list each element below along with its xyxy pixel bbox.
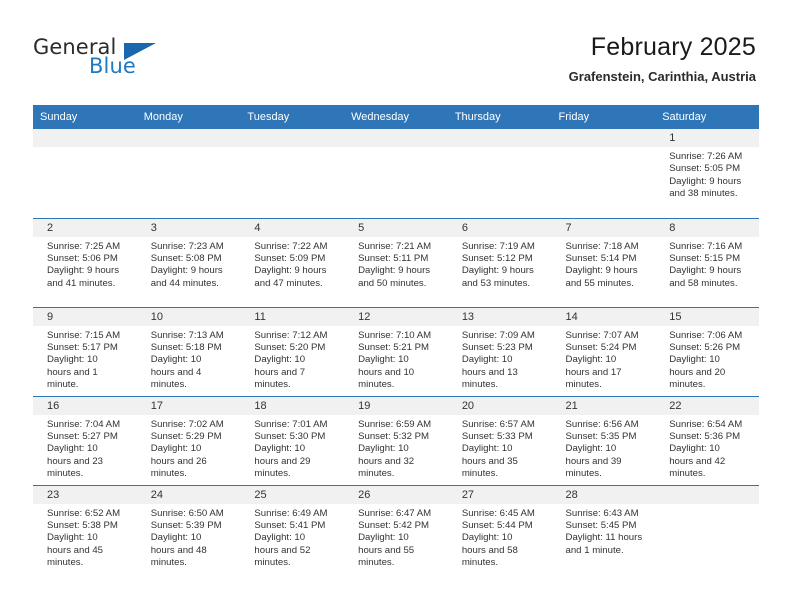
calendar-day-cell[interactable]: 16Sunrise: 7:04 AMSunset: 5:27 PMDayligh… bbox=[33, 396, 137, 485]
day-number: 21 bbox=[559, 397, 650, 415]
daylight-text: Daylight: 10 hours and 10 minutes. bbox=[358, 354, 435, 391]
daylight-text: Daylight: 10 hours and 39 minutes. bbox=[566, 443, 643, 480]
sunrise-text: Sunrise: 7:07 AM bbox=[566, 330, 643, 342]
sunrise-text: Sunrise: 6:54 AM bbox=[669, 419, 746, 431]
calendar-day-cell[interactable]: 3Sunrise: 7:23 AMSunset: 5:08 PMDaylight… bbox=[137, 218, 241, 307]
day-number: 5 bbox=[351, 219, 442, 237]
day-details: Sunrise: 6:45 AMSunset: 5:44 PMDaylight:… bbox=[455, 504, 546, 570]
day-cell-inner bbox=[552, 129, 656, 218]
day-number bbox=[559, 129, 650, 147]
sunset-text: Sunset: 5:21 PM bbox=[358, 342, 435, 354]
day-cell-inner: 19Sunrise: 6:59 AMSunset: 5:32 PMDayligh… bbox=[344, 397, 448, 485]
calendar-day-cell[interactable]: 27Sunrise: 6:45 AMSunset: 5:44 PMDayligh… bbox=[448, 485, 552, 574]
sunset-text: Sunset: 5:29 PM bbox=[151, 431, 228, 443]
sunrise-text: Sunrise: 7:10 AM bbox=[358, 330, 435, 342]
calendar-table: Sunday Monday Tuesday Wednesday Thursday… bbox=[33, 105, 759, 574]
day-number bbox=[351, 129, 442, 147]
day-details: Sunrise: 7:21 AMSunset: 5:11 PMDaylight:… bbox=[351, 237, 442, 291]
daylight-text: Daylight: 9 hours and 44 minutes. bbox=[151, 265, 228, 290]
day-details: Sunrise: 7:12 AMSunset: 5:20 PMDaylight:… bbox=[247, 326, 338, 392]
sunset-text: Sunset: 5:35 PM bbox=[566, 431, 643, 443]
sunset-text: Sunset: 5:15 PM bbox=[669, 253, 746, 265]
day-number: 26 bbox=[351, 486, 442, 504]
sunrise-text: Sunrise: 7:23 AM bbox=[151, 241, 228, 253]
sunrise-text: Sunrise: 7:19 AM bbox=[462, 241, 539, 253]
day-cell-inner: 5Sunrise: 7:21 AMSunset: 5:11 PMDaylight… bbox=[344, 219, 448, 307]
sunset-text: Sunset: 5:11 PM bbox=[358, 253, 435, 265]
calendar-day-cell[interactable]: 15Sunrise: 7:06 AMSunset: 5:26 PMDayligh… bbox=[655, 307, 759, 396]
title-block: February 2025 Grafenstein, Carinthia, Au… bbox=[569, 32, 756, 85]
day-number: 3 bbox=[144, 219, 235, 237]
day-cell-inner: 18Sunrise: 7:01 AMSunset: 5:30 PMDayligh… bbox=[240, 397, 344, 485]
day-cell-inner: 13Sunrise: 7:09 AMSunset: 5:23 PMDayligh… bbox=[448, 308, 552, 396]
calendar-week-row: 9Sunrise: 7:15 AMSunset: 5:17 PMDaylight… bbox=[33, 307, 759, 396]
sunset-text: Sunset: 5:23 PM bbox=[462, 342, 539, 354]
sunrise-text: Sunrise: 7:02 AM bbox=[151, 419, 228, 431]
day-cell-inner: 1Sunrise: 7:26 AMSunset: 5:05 PMDaylight… bbox=[655, 129, 759, 218]
day-number: 27 bbox=[455, 486, 546, 504]
day-cell-inner: 11Sunrise: 7:12 AMSunset: 5:20 PMDayligh… bbox=[240, 308, 344, 396]
day-details: Sunrise: 6:57 AMSunset: 5:33 PMDaylight:… bbox=[455, 415, 546, 481]
sunrise-text: Sunrise: 7:18 AM bbox=[566, 241, 643, 253]
day-cell-inner: 25Sunrise: 6:49 AMSunset: 5:41 PMDayligh… bbox=[240, 486, 344, 575]
sunset-text: Sunset: 5:17 PM bbox=[47, 342, 124, 354]
day-number: 9 bbox=[40, 308, 131, 326]
sunset-text: Sunset: 5:06 PM bbox=[47, 253, 124, 265]
day-number: 7 bbox=[559, 219, 650, 237]
day-number: 24 bbox=[144, 486, 235, 504]
day-number: 28 bbox=[559, 486, 650, 504]
day-number bbox=[662, 486, 753, 504]
sunset-text: Sunset: 5:18 PM bbox=[151, 342, 228, 354]
sunrise-text: Sunrise: 6:49 AM bbox=[254, 508, 331, 520]
calendar-day-cell[interactable]: 17Sunrise: 7:02 AMSunset: 5:29 PMDayligh… bbox=[137, 396, 241, 485]
sunrise-text: Sunrise: 7:15 AM bbox=[47, 330, 124, 342]
sunset-text: Sunset: 5:41 PM bbox=[254, 520, 331, 532]
day-details: Sunrise: 7:18 AMSunset: 5:14 PMDaylight:… bbox=[559, 237, 650, 291]
day-cell-inner: 27Sunrise: 6:45 AMSunset: 5:44 PMDayligh… bbox=[448, 486, 552, 575]
calendar-day-cell[interactable]: 14Sunrise: 7:07 AMSunset: 5:24 PMDayligh… bbox=[552, 307, 656, 396]
daylight-text: Daylight: 10 hours and 1 minute. bbox=[47, 354, 124, 391]
day-cell-inner: 14Sunrise: 7:07 AMSunset: 5:24 PMDayligh… bbox=[552, 308, 656, 396]
day-details: Sunrise: 6:43 AMSunset: 5:45 PMDaylight:… bbox=[559, 504, 650, 558]
day-number: 10 bbox=[144, 308, 235, 326]
calendar-day-cell bbox=[448, 129, 552, 218]
calendar-day-cell bbox=[240, 129, 344, 218]
calendar-day-cell[interactable]: 12Sunrise: 7:10 AMSunset: 5:21 PMDayligh… bbox=[344, 307, 448, 396]
daylight-text: Daylight: 9 hours and 50 minutes. bbox=[358, 265, 435, 290]
sunrise-text: Sunrise: 6:59 AM bbox=[358, 419, 435, 431]
day-cell-inner: 3Sunrise: 7:23 AMSunset: 5:08 PMDaylight… bbox=[137, 219, 241, 307]
brand-name-blue: Blue bbox=[89, 55, 136, 77]
day-details: Sunrise: 6:49 AMSunset: 5:41 PMDaylight:… bbox=[247, 504, 338, 570]
sunset-text: Sunset: 5:26 PM bbox=[669, 342, 746, 354]
day-number bbox=[144, 129, 235, 147]
calendar-day-cell[interactable]: 28Sunrise: 6:43 AMSunset: 5:45 PMDayligh… bbox=[552, 485, 656, 574]
day-cell-inner: 12Sunrise: 7:10 AMSunset: 5:21 PMDayligh… bbox=[344, 308, 448, 396]
calendar-week-row: 23Sunrise: 6:52 AMSunset: 5:38 PMDayligh… bbox=[33, 485, 759, 574]
calendar-week-row: 1Sunrise: 7:26 AMSunset: 5:05 PMDaylight… bbox=[33, 129, 759, 218]
page-header: General Blue February 2025 Grafenstein, … bbox=[0, 0, 792, 104]
weekday-header-monday: Monday bbox=[137, 105, 241, 129]
day-cell-inner: 7Sunrise: 7:18 AMSunset: 5:14 PMDaylight… bbox=[552, 219, 656, 307]
sunset-text: Sunset: 5:09 PM bbox=[254, 253, 331, 265]
sunset-text: Sunset: 5:36 PM bbox=[669, 431, 746, 443]
calendar-day-cell bbox=[655, 485, 759, 574]
day-details: Sunrise: 6:47 AMSunset: 5:42 PMDaylight:… bbox=[351, 504, 442, 570]
calendar-day-cell[interactable]: 5Sunrise: 7:21 AMSunset: 5:11 PMDaylight… bbox=[344, 218, 448, 307]
day-details: Sunrise: 7:04 AMSunset: 5:27 PMDaylight:… bbox=[40, 415, 131, 481]
sunset-text: Sunset: 5:32 PM bbox=[358, 431, 435, 443]
page-subtitle: Grafenstein, Carinthia, Austria bbox=[569, 69, 756, 85]
day-cell-inner: 10Sunrise: 7:13 AMSunset: 5:18 PMDayligh… bbox=[137, 308, 241, 396]
calendar-day-cell bbox=[137, 129, 241, 218]
sunset-text: Sunset: 5:05 PM bbox=[669, 163, 746, 175]
calendar-day-cell[interactable]: 23Sunrise: 6:52 AMSunset: 5:38 PMDayligh… bbox=[33, 485, 137, 574]
day-details: Sunrise: 6:54 AMSunset: 5:36 PMDaylight:… bbox=[662, 415, 753, 481]
calendar-day-cell[interactable]: 19Sunrise: 6:59 AMSunset: 5:32 PMDayligh… bbox=[344, 396, 448, 485]
weekday-header-row: Sunday Monday Tuesday Wednesday Thursday… bbox=[33, 105, 759, 129]
calendar-body: 1Sunrise: 7:26 AMSunset: 5:05 PMDaylight… bbox=[33, 129, 759, 574]
daylight-text: Daylight: 9 hours and 53 minutes. bbox=[462, 265, 539, 290]
daylight-text: Daylight: 10 hours and 23 minutes. bbox=[47, 443, 124, 480]
sunrise-text: Sunrise: 6:57 AM bbox=[462, 419, 539, 431]
calendar-day-cell[interactable]: 26Sunrise: 6:47 AMSunset: 5:42 PMDayligh… bbox=[344, 485, 448, 574]
sunset-text: Sunset: 5:08 PM bbox=[151, 253, 228, 265]
day-number: 8 bbox=[662, 219, 753, 237]
calendar-day-cell[interactable]: 18Sunrise: 7:01 AMSunset: 5:30 PMDayligh… bbox=[240, 396, 344, 485]
day-cell-inner: 23Sunrise: 6:52 AMSunset: 5:38 PMDayligh… bbox=[33, 486, 137, 575]
daylight-text: Daylight: 9 hours and 58 minutes. bbox=[669, 265, 746, 290]
daylight-text: Daylight: 10 hours and 55 minutes. bbox=[358, 532, 435, 569]
day-cell-inner bbox=[655, 486, 759, 575]
calendar-day-cell bbox=[344, 129, 448, 218]
day-details: Sunrise: 6:50 AMSunset: 5:39 PMDaylight:… bbox=[144, 504, 235, 570]
sunrise-text: Sunrise: 7:06 AM bbox=[669, 330, 746, 342]
daylight-text: Daylight: 10 hours and 35 minutes. bbox=[462, 443, 539, 480]
weekday-header-wednesday: Wednesday bbox=[344, 105, 448, 129]
day-cell-inner: 2Sunrise: 7:25 AMSunset: 5:06 PMDaylight… bbox=[33, 219, 137, 307]
calendar-day-cell[interactable]: 9Sunrise: 7:15 AMSunset: 5:17 PMDaylight… bbox=[33, 307, 137, 396]
day-number: 15 bbox=[662, 308, 753, 326]
daylight-text: Daylight: 10 hours and 58 minutes. bbox=[462, 532, 539, 569]
day-details: Sunrise: 7:25 AMSunset: 5:06 PMDaylight:… bbox=[40, 237, 131, 291]
day-number: 13 bbox=[455, 308, 546, 326]
day-details: Sunrise: 7:19 AMSunset: 5:12 PMDaylight:… bbox=[455, 237, 546, 291]
calendar-day-cell[interactable]: 6Sunrise: 7:19 AMSunset: 5:12 PMDaylight… bbox=[448, 218, 552, 307]
sunset-text: Sunset: 5:24 PM bbox=[566, 342, 643, 354]
weekday-header-sunday: Sunday bbox=[33, 105, 137, 129]
daylight-text: Daylight: 10 hours and 42 minutes. bbox=[669, 443, 746, 480]
sunset-text: Sunset: 5:45 PM bbox=[566, 520, 643, 532]
day-cell-inner bbox=[344, 129, 448, 218]
day-number: 22 bbox=[662, 397, 753, 415]
sunrise-text: Sunrise: 7:16 AM bbox=[669, 241, 746, 253]
day-details: Sunrise: 7:15 AMSunset: 5:17 PMDaylight:… bbox=[40, 326, 131, 392]
day-number: 17 bbox=[144, 397, 235, 415]
day-details: Sunrise: 7:10 AMSunset: 5:21 PMDaylight:… bbox=[351, 326, 442, 392]
day-details: Sunrise: 7:09 AMSunset: 5:23 PMDaylight:… bbox=[455, 326, 546, 392]
daylight-text: Daylight: 10 hours and 4 minutes. bbox=[151, 354, 228, 391]
sunrise-text: Sunrise: 7:12 AM bbox=[254, 330, 331, 342]
day-details: Sunrise: 7:23 AMSunset: 5:08 PMDaylight:… bbox=[144, 237, 235, 291]
calendar-day-cell[interactable]: 13Sunrise: 7:09 AMSunset: 5:23 PMDayligh… bbox=[448, 307, 552, 396]
day-cell-inner bbox=[240, 129, 344, 218]
calendar-day-cell[interactable]: 4Sunrise: 7:22 AMSunset: 5:09 PMDaylight… bbox=[240, 218, 344, 307]
calendar-week-row: 16Sunrise: 7:04 AMSunset: 5:27 PMDayligh… bbox=[33, 396, 759, 485]
day-cell-inner: 6Sunrise: 7:19 AMSunset: 5:12 PMDaylight… bbox=[448, 219, 552, 307]
sunrise-text: Sunrise: 6:52 AM bbox=[47, 508, 124, 520]
sunrise-text: Sunrise: 6:50 AM bbox=[151, 508, 228, 520]
calendar-day-cell[interactable]: 21Sunrise: 6:56 AMSunset: 5:35 PMDayligh… bbox=[552, 396, 656, 485]
day-cell-inner: 9Sunrise: 7:15 AMSunset: 5:17 PMDaylight… bbox=[33, 308, 137, 396]
calendar-day-cell[interactable]: 7Sunrise: 7:18 AMSunset: 5:14 PMDaylight… bbox=[552, 218, 656, 307]
sunrise-text: Sunrise: 7:09 AM bbox=[462, 330, 539, 342]
day-number: 6 bbox=[455, 219, 546, 237]
day-number bbox=[455, 129, 546, 147]
page-title: February 2025 bbox=[569, 32, 756, 62]
sunset-text: Sunset: 5:38 PM bbox=[47, 520, 124, 532]
day-number: 14 bbox=[559, 308, 650, 326]
sunrise-text: Sunrise: 7:01 AM bbox=[254, 419, 331, 431]
calendar-day-cell[interactable]: 2Sunrise: 7:25 AMSunset: 5:06 PMDaylight… bbox=[33, 218, 137, 307]
daylight-text: Daylight: 9 hours and 55 minutes. bbox=[566, 265, 643, 290]
day-number: 16 bbox=[40, 397, 131, 415]
day-number: 12 bbox=[351, 308, 442, 326]
daylight-text: Daylight: 10 hours and 52 minutes. bbox=[254, 532, 331, 569]
daylight-text: Daylight: 11 hours and 1 minute. bbox=[566, 532, 643, 557]
sunrise-text: Sunrise: 6:43 AM bbox=[566, 508, 643, 520]
day-cell-inner bbox=[137, 129, 241, 218]
day-cell-inner: 17Sunrise: 7:02 AMSunset: 5:29 PMDayligh… bbox=[137, 397, 241, 485]
day-number: 25 bbox=[247, 486, 338, 504]
calendar-day-cell[interactable]: 20Sunrise: 6:57 AMSunset: 5:33 PMDayligh… bbox=[448, 396, 552, 485]
sunset-text: Sunset: 5:27 PM bbox=[47, 431, 124, 443]
sunrise-text: Sunrise: 7:21 AM bbox=[358, 241, 435, 253]
day-cell-inner: 24Sunrise: 6:50 AMSunset: 5:39 PMDayligh… bbox=[137, 486, 241, 575]
day-number: 2 bbox=[40, 219, 131, 237]
brand-logo[interactable]: General Blue bbox=[33, 36, 233, 86]
day-details: Sunrise: 7:07 AMSunset: 5:24 PMDaylight:… bbox=[559, 326, 650, 392]
day-cell-inner: 16Sunrise: 7:04 AMSunset: 5:27 PMDayligh… bbox=[33, 397, 137, 485]
sunrise-text: Sunrise: 7:22 AM bbox=[254, 241, 331, 253]
day-cell-inner: 15Sunrise: 7:06 AMSunset: 5:26 PMDayligh… bbox=[655, 308, 759, 396]
calendar-day-cell[interactable]: 24Sunrise: 6:50 AMSunset: 5:39 PMDayligh… bbox=[137, 485, 241, 574]
day-number: 20 bbox=[455, 397, 546, 415]
sunrise-text: Sunrise: 7:04 AM bbox=[47, 419, 124, 431]
sunset-text: Sunset: 5:12 PM bbox=[462, 253, 539, 265]
sunrise-text: Sunrise: 6:45 AM bbox=[462, 508, 539, 520]
day-cell-inner: 26Sunrise: 6:47 AMSunset: 5:42 PMDayligh… bbox=[344, 486, 448, 575]
sunrise-text: Sunrise: 6:47 AM bbox=[358, 508, 435, 520]
day-number: 4 bbox=[247, 219, 338, 237]
sunrise-text: Sunrise: 6:56 AM bbox=[566, 419, 643, 431]
calendar-day-cell[interactable]: 1Sunrise: 7:26 AMSunset: 5:05 PMDaylight… bbox=[655, 129, 759, 218]
day-number: 1 bbox=[662, 129, 753, 147]
day-details: Sunrise: 7:06 AMSunset: 5:26 PMDaylight:… bbox=[662, 326, 753, 392]
calendar-page: General Blue February 2025 Grafenstein, … bbox=[0, 0, 792, 612]
daylight-text: Daylight: 10 hours and 26 minutes. bbox=[151, 443, 228, 480]
weekday-header-friday: Friday bbox=[552, 105, 656, 129]
day-details: Sunrise: 6:59 AMSunset: 5:32 PMDaylight:… bbox=[351, 415, 442, 481]
calendar-day-cell[interactable]: 8Sunrise: 7:16 AMSunset: 5:15 PMDaylight… bbox=[655, 218, 759, 307]
day-cell-inner: 8Sunrise: 7:16 AMSunset: 5:15 PMDaylight… bbox=[655, 219, 759, 307]
day-details: Sunrise: 7:13 AMSunset: 5:18 PMDaylight:… bbox=[144, 326, 235, 392]
sunset-text: Sunset: 5:20 PM bbox=[254, 342, 331, 354]
daylight-text: Daylight: 10 hours and 32 minutes. bbox=[358, 443, 435, 480]
sunrise-text: Sunrise: 7:26 AM bbox=[669, 151, 746, 163]
weekday-header-tuesday: Tuesday bbox=[240, 105, 344, 129]
daylight-text: Daylight: 10 hours and 17 minutes. bbox=[566, 354, 643, 391]
day-details: Sunrise: 6:56 AMSunset: 5:35 PMDaylight:… bbox=[559, 415, 650, 481]
sunrise-text: Sunrise: 7:25 AM bbox=[47, 241, 124, 253]
day-cell-inner bbox=[448, 129, 552, 218]
day-cell-inner: 20Sunrise: 6:57 AMSunset: 5:33 PMDayligh… bbox=[448, 397, 552, 485]
sunset-text: Sunset: 5:14 PM bbox=[566, 253, 643, 265]
day-number bbox=[247, 129, 338, 147]
day-details: Sunrise: 7:26 AMSunset: 5:05 PMDaylight:… bbox=[662, 147, 753, 201]
day-cell-inner: 4Sunrise: 7:22 AMSunset: 5:09 PMDaylight… bbox=[240, 219, 344, 307]
day-number bbox=[40, 129, 131, 147]
day-details: Sunrise: 6:52 AMSunset: 5:38 PMDaylight:… bbox=[40, 504, 131, 570]
sunset-text: Sunset: 5:42 PM bbox=[358, 520, 435, 532]
daylight-text: Daylight: 10 hours and 20 minutes. bbox=[669, 354, 746, 391]
day-details: Sunrise: 7:01 AMSunset: 5:30 PMDaylight:… bbox=[247, 415, 338, 481]
calendar-day-cell bbox=[552, 129, 656, 218]
daylight-text: Daylight: 10 hours and 13 minutes. bbox=[462, 354, 539, 391]
daylight-text: Daylight: 10 hours and 29 minutes. bbox=[254, 443, 331, 480]
day-details: Sunrise: 7:22 AMSunset: 5:09 PMDaylight:… bbox=[247, 237, 338, 291]
day-number: 11 bbox=[247, 308, 338, 326]
daylight-text: Daylight: 9 hours and 47 minutes. bbox=[254, 265, 331, 290]
day-cell-inner: 28Sunrise: 6:43 AMSunset: 5:45 PMDayligh… bbox=[552, 486, 656, 575]
calendar-day-cell[interactable]: 10Sunrise: 7:13 AMSunset: 5:18 PMDayligh… bbox=[137, 307, 241, 396]
weekday-header-thursday: Thursday bbox=[448, 105, 552, 129]
sunset-text: Sunset: 5:30 PM bbox=[254, 431, 331, 443]
calendar-day-cell[interactable]: 11Sunrise: 7:12 AMSunset: 5:20 PMDayligh… bbox=[240, 307, 344, 396]
sunset-text: Sunset: 5:39 PM bbox=[151, 520, 228, 532]
calendar-day-cell[interactable]: 22Sunrise: 6:54 AMSunset: 5:36 PMDayligh… bbox=[655, 396, 759, 485]
day-cell-inner bbox=[33, 129, 137, 218]
calendar-week-row: 2Sunrise: 7:25 AMSunset: 5:06 PMDaylight… bbox=[33, 218, 759, 307]
daylight-text: Daylight: 9 hours and 38 minutes. bbox=[669, 176, 746, 201]
daylight-text: Daylight: 10 hours and 7 minutes. bbox=[254, 354, 331, 391]
daylight-text: Daylight: 10 hours and 48 minutes. bbox=[151, 532, 228, 569]
weekday-header-saturday: Saturday bbox=[655, 105, 759, 129]
day-details: Sunrise: 7:16 AMSunset: 5:15 PMDaylight:… bbox=[662, 237, 753, 291]
daylight-text: Daylight: 9 hours and 41 minutes. bbox=[47, 265, 124, 290]
day-details: Sunrise: 7:02 AMSunset: 5:29 PMDaylight:… bbox=[144, 415, 235, 481]
daylight-text: Daylight: 10 hours and 45 minutes. bbox=[47, 532, 124, 569]
day-number: 19 bbox=[351, 397, 442, 415]
calendar-day-cell bbox=[33, 129, 137, 218]
day-number: 23 bbox=[40, 486, 131, 504]
day-cell-inner: 21Sunrise: 6:56 AMSunset: 5:35 PMDayligh… bbox=[552, 397, 656, 485]
sunrise-text: Sunrise: 7:13 AM bbox=[151, 330, 228, 342]
sunset-text: Sunset: 5:33 PM bbox=[462, 431, 539, 443]
day-cell-inner: 22Sunrise: 6:54 AMSunset: 5:36 PMDayligh… bbox=[655, 397, 759, 485]
day-number: 18 bbox=[247, 397, 338, 415]
sunset-text: Sunset: 5:44 PM bbox=[462, 520, 539, 532]
calendar-day-cell[interactable]: 25Sunrise: 6:49 AMSunset: 5:41 PMDayligh… bbox=[240, 485, 344, 574]
